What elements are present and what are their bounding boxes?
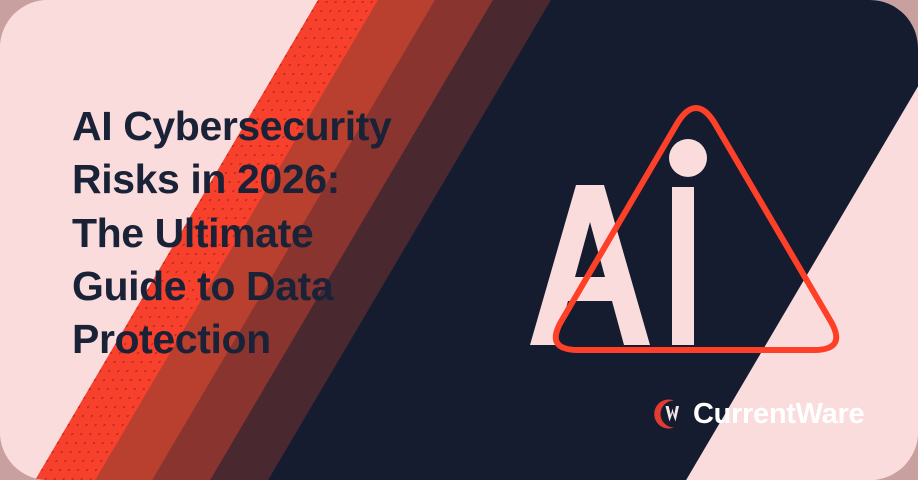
logo-w-mark	[666, 406, 680, 422]
logo-c-arc	[654, 400, 674, 429]
currentware-logo-icon	[648, 396, 684, 432]
promo-banner: AI Cybersecurity Risks in 2026: The Ulti…	[0, 0, 918, 480]
banner-headline: AI Cybersecurity Risks in 2026: The Ulti…	[72, 100, 452, 366]
currentware-logo: CurrentWare	[648, 396, 864, 432]
currentware-logo-text: CurrentWare	[693, 400, 864, 429]
